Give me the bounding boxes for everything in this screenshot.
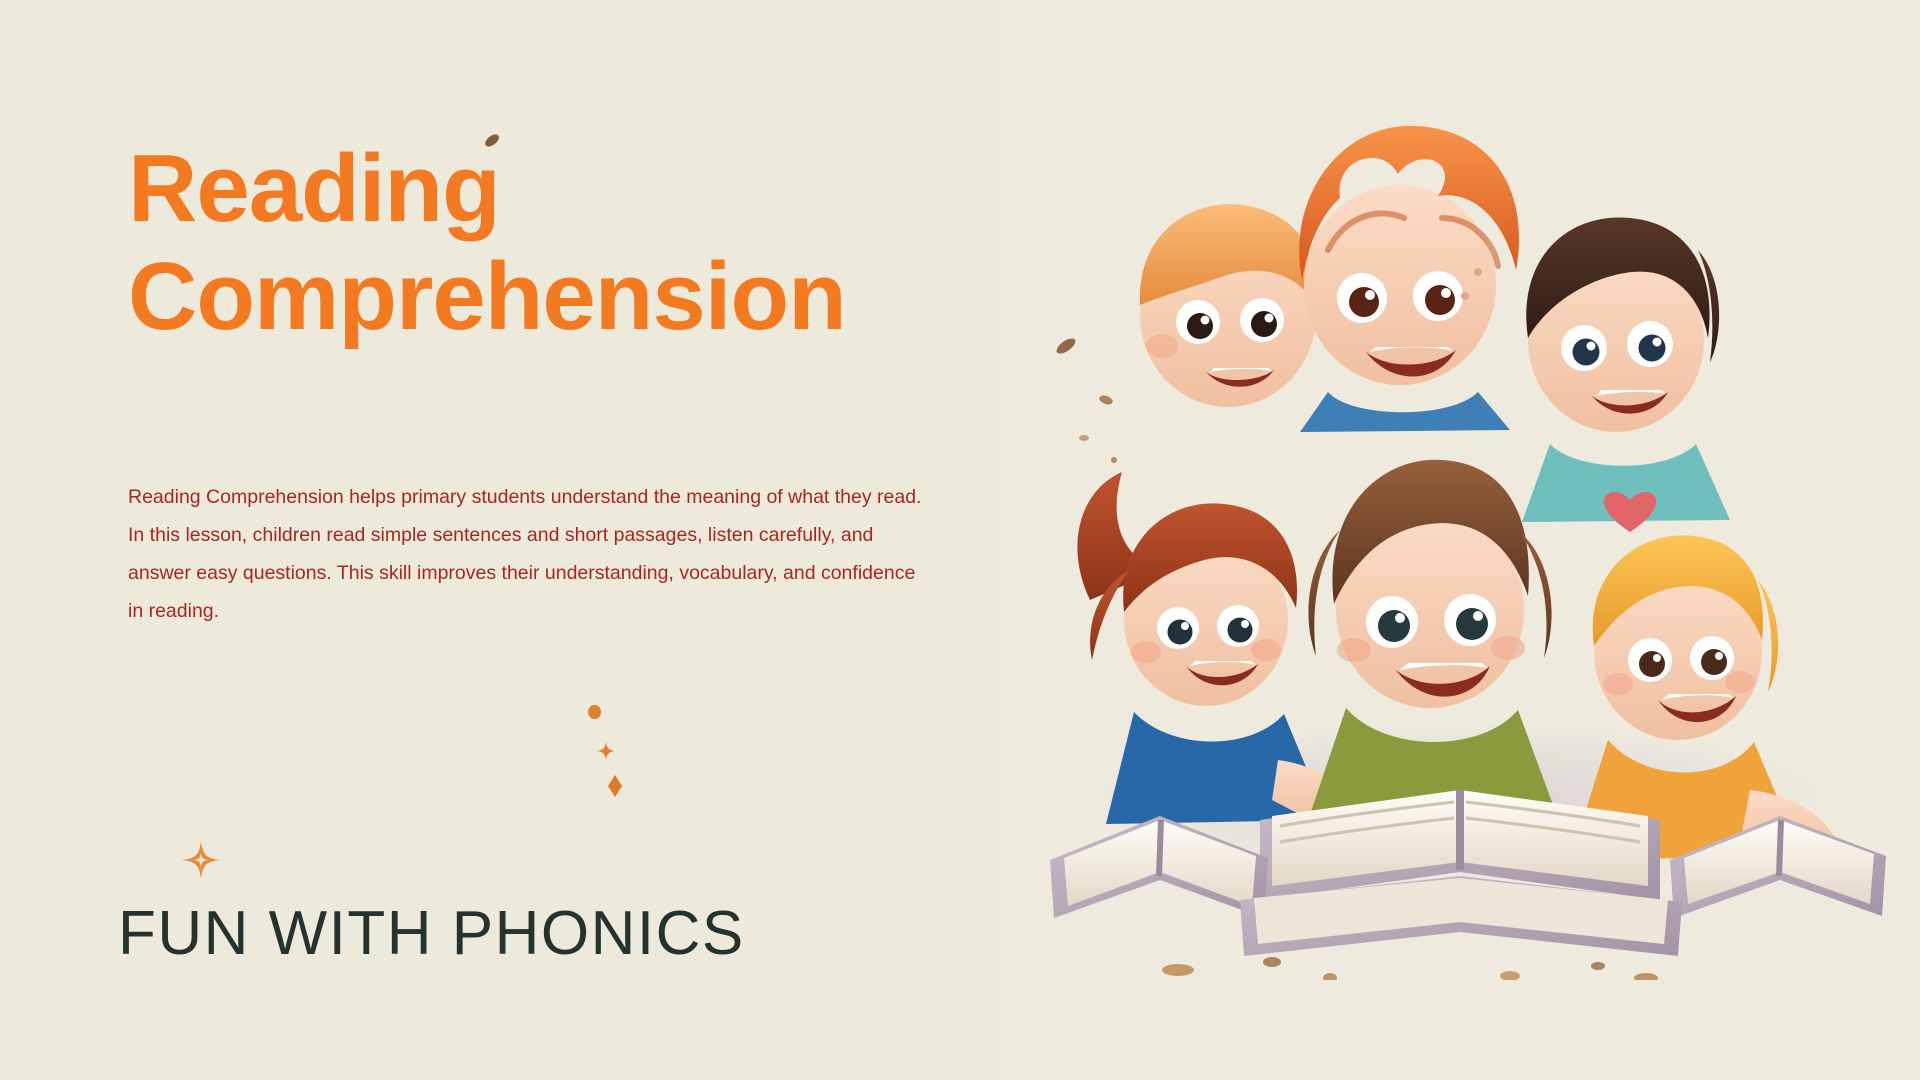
page-title-line-1: Reading [128,135,958,243]
slide-canvas: Reading Comprehension Reading Comprehens… [0,0,1920,1080]
child-center-back [1299,126,1519,432]
large-sparkle-icon [182,838,220,882]
child-left-back [1140,204,1317,407]
floating-fleck [1054,336,1078,357]
crumb [1500,971,1520,980]
page-title-line-2: Comprehension [128,243,958,351]
dot-circle-icon [588,705,601,719]
crumb [1162,964,1194,976]
child-right-back [1522,217,1730,532]
small-sparkle-icon [597,742,615,760]
subtitle-fun-with-phonics: FUN WITH PHONICS [118,898,745,969]
page-title: Reading Comprehension [128,135,958,350]
children-reading-illustration [1010,100,1910,980]
floating-fleck [1111,457,1117,463]
child-front-left [1077,472,1354,826]
crumb [1323,973,1337,980]
floating-fleck [1098,394,1114,406]
floating-fleck [1079,435,1089,441]
crumb [1263,957,1281,967]
description-paragraph: Reading Comprehension helps primary stud… [128,478,928,630]
crumb [1591,962,1605,970]
crumb [1634,973,1658,980]
